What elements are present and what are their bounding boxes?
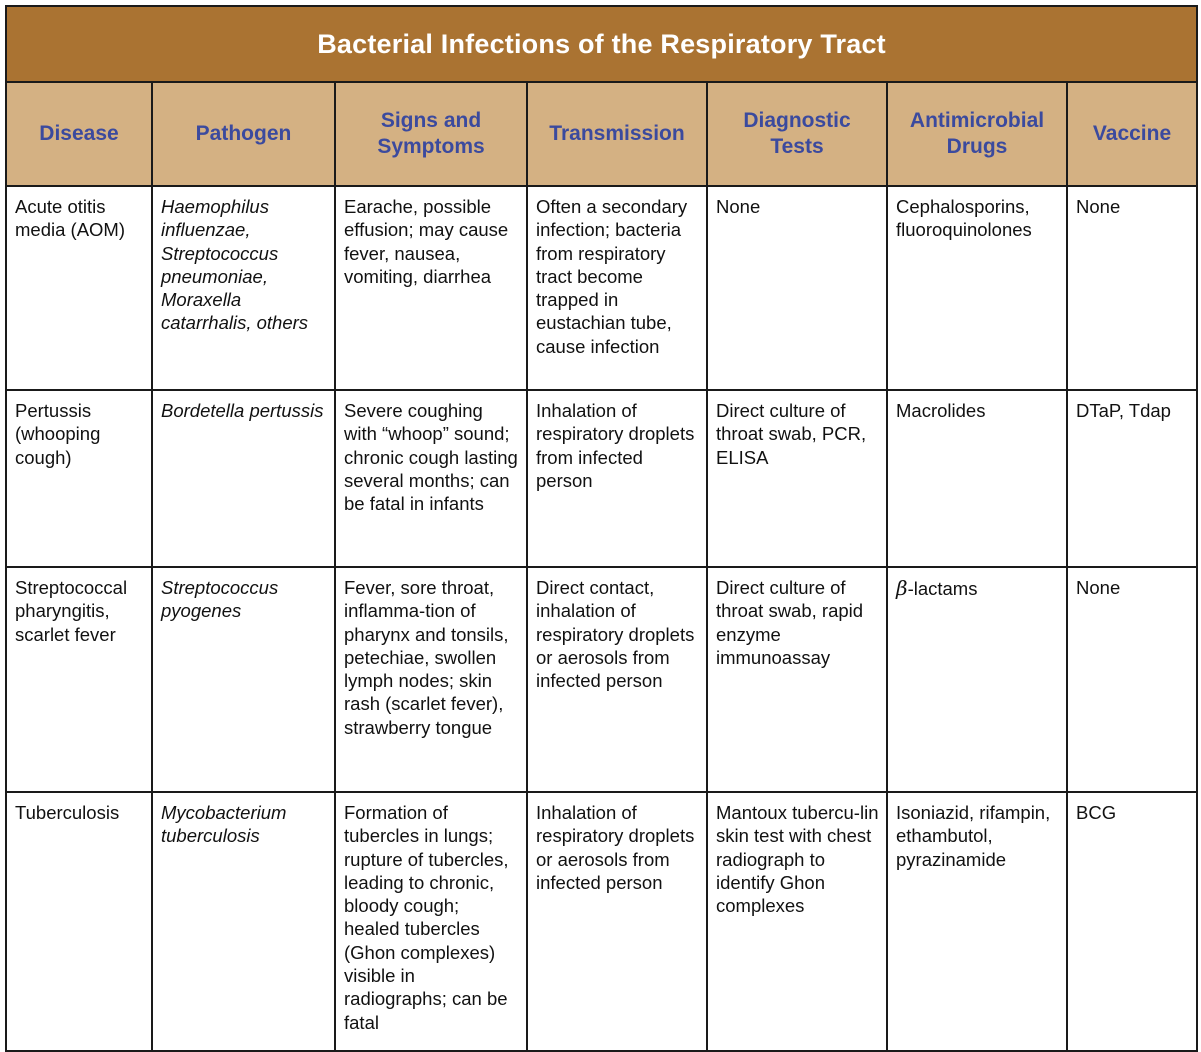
cell-disease: Acute otitis media (AOM) [6, 186, 152, 390]
beta-glyph: β [896, 576, 908, 600]
bacterial-infections-table: Bacterial Infections of the Respiratory … [5, 5, 1198, 1052]
column-header-transmission: Transmission [527, 82, 707, 186]
column-header-signs-and-symptoms: Signs and Symptoms [335, 82, 527, 186]
table-row: Streptococcal pharyngitis, scarlet fever… [6, 567, 1197, 792]
column-header-diagnostic-tests: Diagnostic Tests [707, 82, 887, 186]
cell-diagnostic: Mantoux tubercu-lin skin test with chest… [707, 792, 887, 1051]
cell-drugs: Isoniazid, rifampin, ethambutol, pyrazin… [887, 792, 1067, 1051]
cell-transmission: Inhalation of respiratory droplets from … [527, 390, 707, 567]
table-header-row: Disease Pathogen Signs and Symptoms Tran… [6, 82, 1197, 186]
cell-diagnostic: None [707, 186, 887, 390]
cell-drugs: Macrolides [887, 390, 1067, 567]
column-header-antimicrobial-drugs: Antimicrobial Drugs [887, 82, 1067, 186]
cell-disease: Tuberculosis [6, 792, 152, 1051]
table-title-row: Bacterial Infections of the Respiratory … [6, 6, 1197, 82]
cell-pathogen: Bordetella pertussis [152, 390, 335, 567]
cell-vaccine: DTaP, Tdap [1067, 390, 1197, 567]
column-header-vaccine: Vaccine [1067, 82, 1197, 186]
cell-signs: Earache, possible effusion; may cause fe… [335, 186, 527, 390]
cell-drugs: β-lactams [887, 567, 1067, 792]
cell-vaccine: None [1067, 567, 1197, 792]
cell-diagnostic: Direct culture of throat swab, rapid enz… [707, 567, 887, 792]
column-header-pathogen: Pathogen [152, 82, 335, 186]
column-header-disease: Disease [6, 82, 152, 186]
table-title: Bacterial Infections of the Respiratory … [6, 6, 1197, 82]
cell-transmission: Direct contact, inhalation of respirator… [527, 567, 707, 792]
cell-vaccine: BCG [1067, 792, 1197, 1051]
table-row: Pertussis (whooping cough) Bordetella pe… [6, 390, 1197, 567]
cell-disease: Streptococcal pharyngitis, scarlet fever [6, 567, 152, 792]
table-row: Acute otitis media (AOM) Haemophilus inf… [6, 186, 1197, 390]
cell-transmission: Inhalation of respiratory droplets or ae… [527, 792, 707, 1051]
cell-disease: Pertussis (whooping cough) [6, 390, 152, 567]
cell-pathogen: Streptococcus pyogenes [152, 567, 335, 792]
cell-pathogen: Mycobacterium tuberculosis [152, 792, 335, 1051]
cell-signs: Fever, sore throat, inflamma-tion of pha… [335, 567, 527, 792]
cell-signs: Severe coughing with “whoop” sound; chro… [335, 390, 527, 567]
table-container: Bacterial Infections of the Respiratory … [0, 0, 1201, 1012]
table-row: Tuberculosis Mycobacterium tuberculosis … [6, 792, 1197, 1051]
cell-drugs: Cephalosporins, fluoroquinolones [887, 186, 1067, 390]
cell-pathogen: Haemophilus influenzae, Streptococcus pn… [152, 186, 335, 390]
table-body: Acute otitis media (AOM) Haemophilus inf… [6, 186, 1197, 1051]
cell-vaccine: None [1067, 186, 1197, 390]
cell-transmission: Often a secondary infection; bacteria fr… [527, 186, 707, 390]
cell-diagnostic: Direct culture of throat swab, PCR, ELIS… [707, 390, 887, 567]
cell-signs: Formation of tubercles in lungs; rupture… [335, 792, 527, 1051]
